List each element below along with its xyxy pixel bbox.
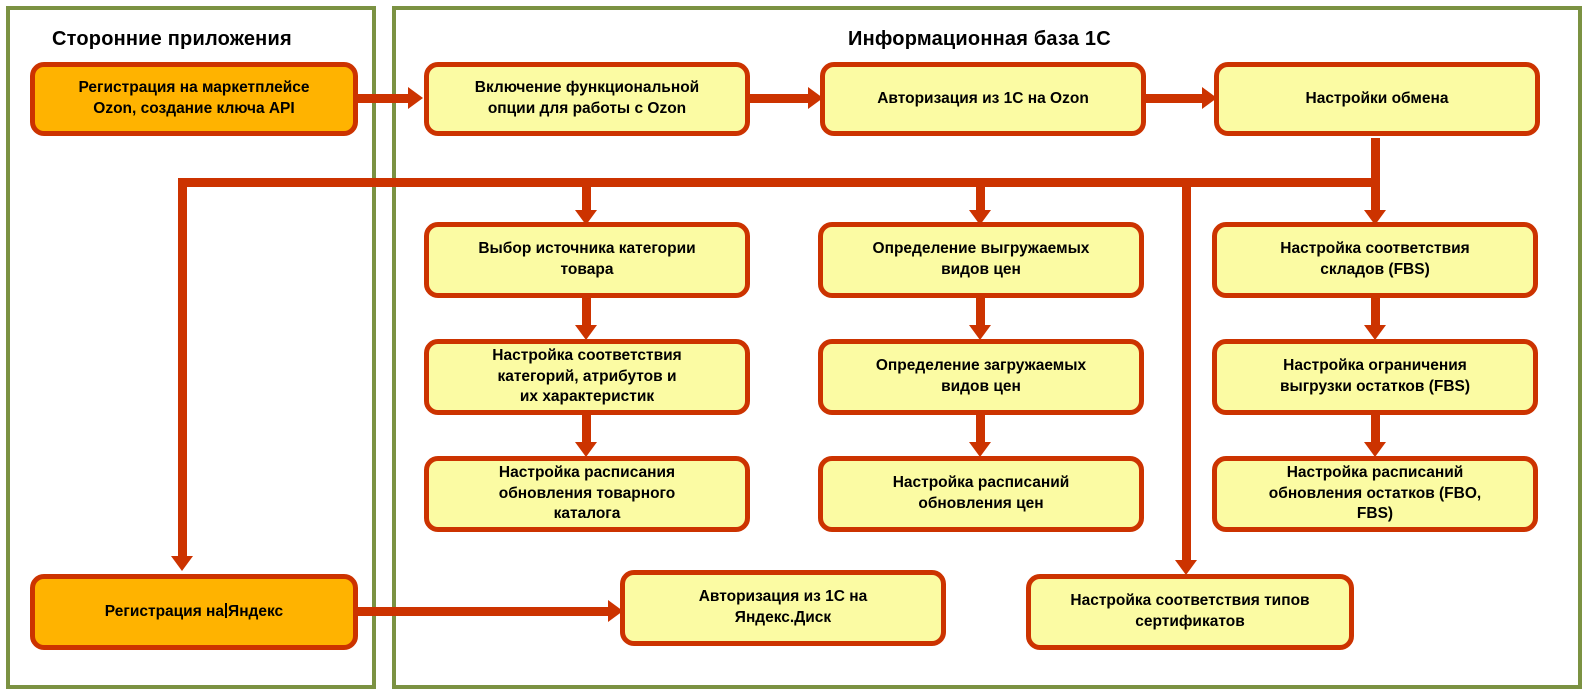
node-category-mapping[interactable]: Настройка соответствия категорий, атрибу… (424, 339, 750, 415)
connector-bus-to-certificates (1182, 178, 1191, 566)
arrowhead-stock-limit-to-schedule (1364, 442, 1386, 457)
connector-bus-to-export-prices (976, 178, 985, 214)
node-auth-1c-yandex-disk[interactable]: Авторизация из 1С на Яндекс.Диск (620, 570, 946, 646)
node-stock-schedule[interactable]: Настройка расписаний обновления остатков… (1212, 456, 1538, 532)
arrowhead-mapping-to-catalog-schedule (575, 442, 597, 457)
diagram-canvas: Сторонние приложения Информационная база… (0, 0, 1588, 695)
node-catalog-schedule[interactable]: Настройка расписания обновления товарног… (424, 456, 750, 532)
node-yandex-registration-label-before: Регистрация на (105, 603, 224, 620)
arrowhead-export-to-import-prices (969, 325, 991, 340)
node-category-source-label: Выбор источника категории товара (478, 239, 695, 281)
arrowhead-bus-to-certificates (1175, 560, 1197, 575)
node-stock-export-limit-label: Настройка ограничения выгрузки остатков … (1280, 356, 1470, 398)
connector-yandex-to-disk-auth (356, 607, 612, 616)
node-catalog-schedule-label: Настройка расписания обновления товарног… (499, 463, 676, 526)
connector-bus-to-category-source (582, 178, 591, 214)
arrowhead-bus-to-yandex (171, 556, 193, 571)
node-export-price-types[interactable]: Определение выгружаемых видов цен (818, 222, 1144, 298)
connector-ozon-to-option (352, 94, 410, 103)
node-price-schedule[interactable]: Настройка расписаний обновления цен (818, 456, 1144, 532)
node-enable-functional-option-label: Включение функциональной опции для работ… (475, 78, 699, 120)
panel-title-infobase-1c: Информационная база 1С (848, 28, 1111, 51)
arrowhead-warehouse-to-stock-limit (1364, 325, 1386, 340)
panel-title-third-party: Сторонние приложения (52, 28, 292, 51)
node-auth-1c-ozon[interactable]: Авторизация из 1С на Ozon (820, 62, 1146, 136)
node-export-price-types-label: Определение выгружаемых видов цен (873, 239, 1090, 281)
node-certificate-type-mapping[interactable]: Настройка соответствия типов сертификато… (1026, 574, 1354, 650)
arrowhead-import-to-price-schedule (969, 442, 991, 457)
node-ozon-registration-label: Регистрация на маркетплейсе Ozon, создан… (78, 78, 309, 120)
text-cursor-caret (225, 603, 227, 618)
arrowhead-category-source-to-mapping (575, 325, 597, 340)
node-enable-functional-option[interactable]: Включение функциональной опции для работ… (424, 62, 750, 136)
node-category-source[interactable]: Выбор источника категории товара (424, 222, 750, 298)
node-price-schedule-label: Настройка расписаний обновления цен (893, 473, 1070, 515)
node-warehouse-mapping-label: Настройка соответствия складов (FBS) (1280, 239, 1469, 281)
node-yandex-registration[interactable]: Регистрация наЯндекс (30, 574, 358, 650)
node-auth-1c-yandex-disk-label: Авторизация из 1С на Яндекс.Диск (699, 587, 868, 629)
node-warehouse-mapping[interactable]: Настройка соответствия складов (FBS) (1212, 222, 1538, 298)
connector-option-to-auth (746, 94, 810, 103)
connector-bus-horizontal (178, 178, 1380, 187)
node-stock-export-limit[interactable]: Настройка ограничения выгрузки остатков … (1212, 339, 1538, 415)
node-stock-schedule-label: Настройка расписаний обновления остатков… (1269, 463, 1481, 526)
node-yandex-registration-label-after: Яндекс (228, 603, 283, 620)
node-exchange-settings[interactable]: Настройки обмена (1214, 62, 1540, 136)
node-auth-1c-ozon-label: Авторизация из 1С на Ozon (877, 89, 1089, 110)
arrowhead-ozon-to-option (408, 87, 423, 109)
node-yandex-registration-label: Регистрация наЯндекс (105, 602, 283, 623)
node-category-mapping-label: Настройка соответствия категорий, атрибу… (492, 346, 681, 409)
node-certificate-type-mapping-label: Настройка соответствия типов сертификато… (1070, 591, 1309, 633)
node-exchange-settings-label: Настройки обмена (1306, 89, 1449, 110)
node-import-price-types[interactable]: Определение загружаемых видов цен (818, 339, 1144, 415)
node-import-price-types-label: Определение загружаемых видов цен (876, 356, 1086, 398)
node-ozon-registration[interactable]: Регистрация на маркетплейсе Ozon, создан… (30, 62, 358, 136)
connector-auth-to-exchange (1142, 94, 1204, 103)
connector-bus-to-yandex (178, 178, 187, 560)
